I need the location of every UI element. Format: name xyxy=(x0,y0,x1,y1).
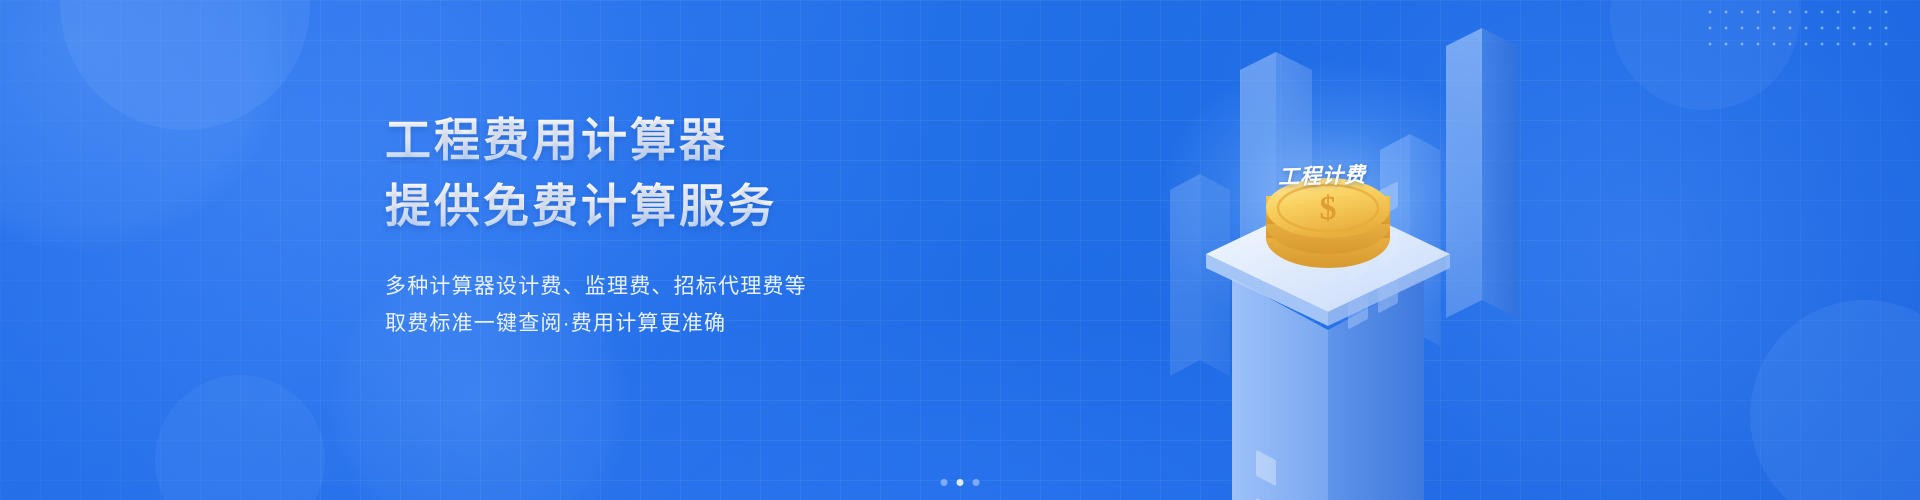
banner-title-line-1: 工程费用计算器 xyxy=(385,110,1005,170)
decorative-circle xyxy=(155,375,325,500)
carousel-dot-1[interactable] xyxy=(941,479,948,486)
svg-text:$: $ xyxy=(1320,190,1337,227)
dollar-sign-icon: $ xyxy=(1320,190,1337,227)
banner-copy: 工程费用计算器 提供免费计算服务 多种计算器设计费、监理费、招标代理费等 取费标… xyxy=(385,110,1005,342)
decorative-circle xyxy=(0,0,290,250)
illustration-badge-label: 工程计费 xyxy=(1278,159,1367,191)
banner-subtitle-line-1: 多种计算器设计费、监理费、招标代理费等 xyxy=(385,268,1005,305)
decorative-circle xyxy=(1610,0,1800,110)
carousel-dot-2[interactable] xyxy=(957,479,964,486)
banner-title-line-2: 提供免费计算服务 xyxy=(385,176,1005,236)
decorative-circle xyxy=(60,0,310,130)
banner-subtitle-line-2: 取费标准一键查阅·费用计算更准确 xyxy=(385,305,1005,342)
banner-subtitle: 多种计算器设计费、监理费、招标代理费等 取费标准一键查阅·费用计算更准确 xyxy=(385,268,1005,342)
decorative-circle xyxy=(1750,300,1920,500)
hero-banner: 工程费用计算器 提供免费计算服务 多种计算器设计费、监理费、招标代理费等 取费标… xyxy=(0,0,1920,500)
illustration-coin-stack: $ xyxy=(1266,178,1390,268)
decorative-dot-matrix xyxy=(1702,4,1892,48)
banner-illustration: $ xyxy=(1080,0,1600,500)
carousel-pagination[interactable] xyxy=(941,479,980,486)
carousel-dot-3[interactable] xyxy=(973,479,980,486)
